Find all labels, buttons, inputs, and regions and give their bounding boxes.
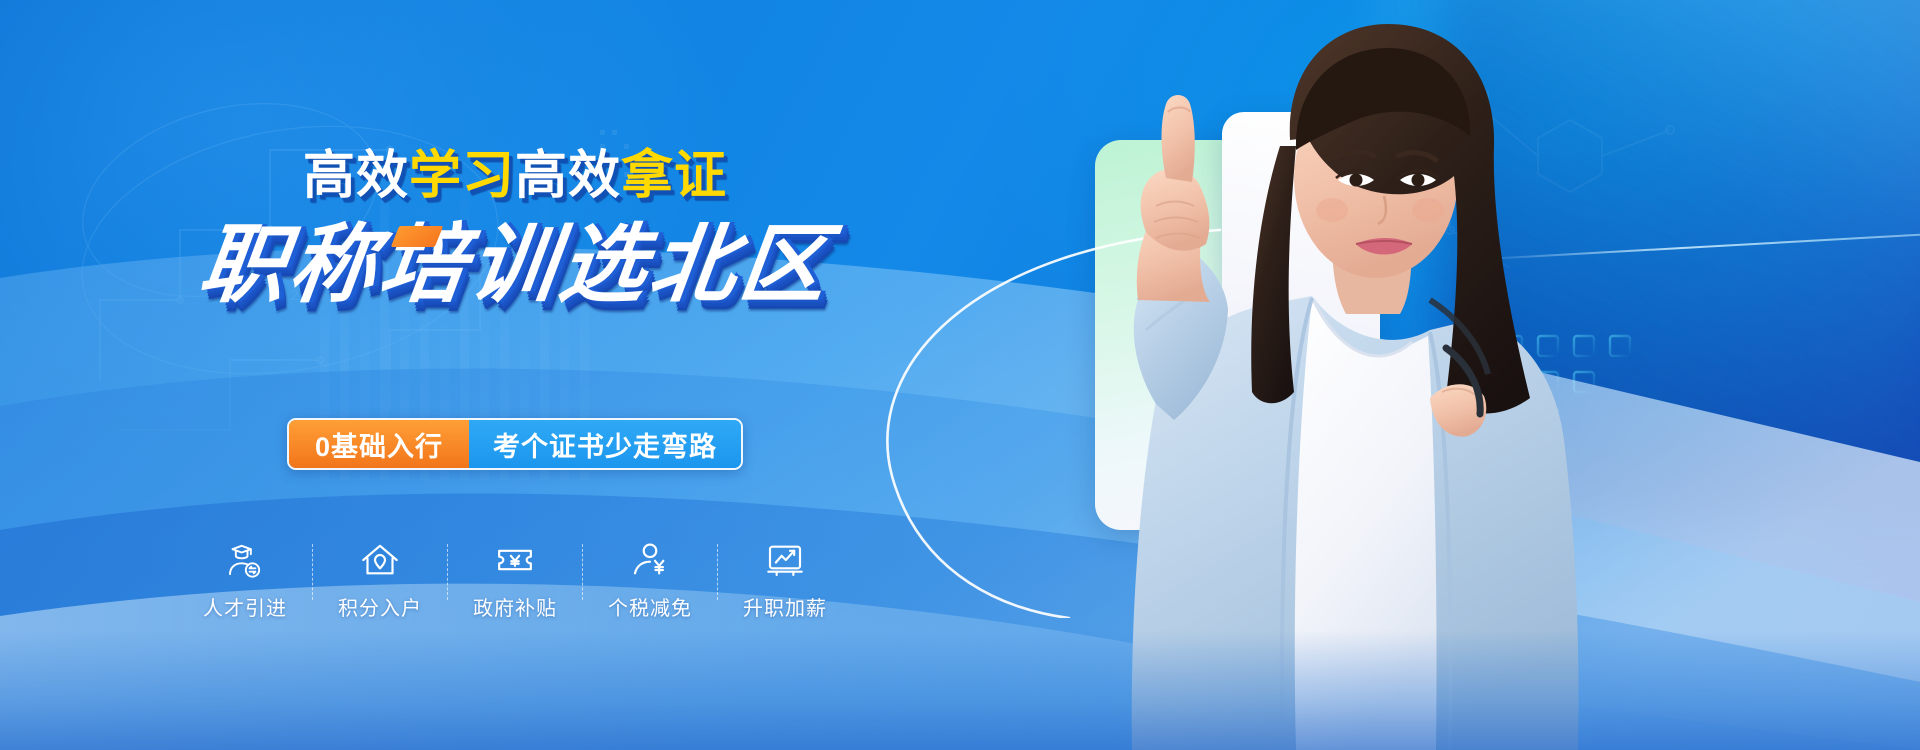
orange-accent-mark xyxy=(391,226,443,247)
feature-label: 积分入户 xyxy=(338,592,422,621)
feature-row: 人才引进 积分入户 xyxy=(0,540,1030,621)
subheadline-seg-0: 高效 xyxy=(303,147,409,205)
cta-right-label[interactable]: 考个证书少走弯路 xyxy=(469,420,741,468)
headline-block: 高效学习高效拿证 职称培训选北区 xyxy=(0,150,1030,322)
feature-label: 个税减免 xyxy=(608,592,692,621)
cta-row: 0基础入行 考个证书少走弯路 xyxy=(0,418,1030,470)
hero-figure-area xyxy=(960,0,1920,750)
cta-pill-group[interactable]: 0基础入行 考个证书少走弯路 xyxy=(287,418,743,470)
house-location-pin-icon xyxy=(360,540,400,580)
cta-left-label[interactable]: 0基础入行 xyxy=(289,420,469,468)
subheadline: 高效学习高效拿证 xyxy=(0,150,1030,202)
yuan-coupon-ticket-icon xyxy=(495,540,535,580)
banner-copy: 高效学习高效拿证 职称培训选北区 0基础入行 考个证书少走弯路 xyxy=(0,0,1030,750)
person-yuan-icon xyxy=(630,540,670,580)
feature-item-gov-subsidy[interactable]: 政府补贴 xyxy=(448,540,582,621)
growth-chart-icon xyxy=(765,540,805,580)
feature-label: 升职加薪 xyxy=(743,592,827,621)
graduate-person-icon xyxy=(225,540,265,580)
subheadline-seg-3: 拿证 xyxy=(621,147,727,205)
promo-banner: 2 39 xyxy=(0,0,1920,750)
subheadline-seg-2: 高效 xyxy=(515,147,621,205)
feature-label: 人才引进 xyxy=(203,592,287,621)
pointing-woman-photo xyxy=(960,0,1920,750)
feature-label: 政府补贴 xyxy=(473,592,557,621)
feature-item-tax-reduction[interactable]: 个税减免 xyxy=(583,540,717,621)
main-headline: 职称培训选北区 xyxy=(194,218,836,313)
feature-item-promotion-raise[interactable]: 升职加薪 xyxy=(718,540,852,621)
subheadline-seg-1: 学习 xyxy=(409,147,515,205)
headline-wrap: 职称培训选北区 xyxy=(0,218,1030,322)
feature-item-points-residence[interactable]: 积分入户 xyxy=(313,540,447,621)
feature-item-talent-intro[interactable]: 人才引进 xyxy=(178,540,312,621)
